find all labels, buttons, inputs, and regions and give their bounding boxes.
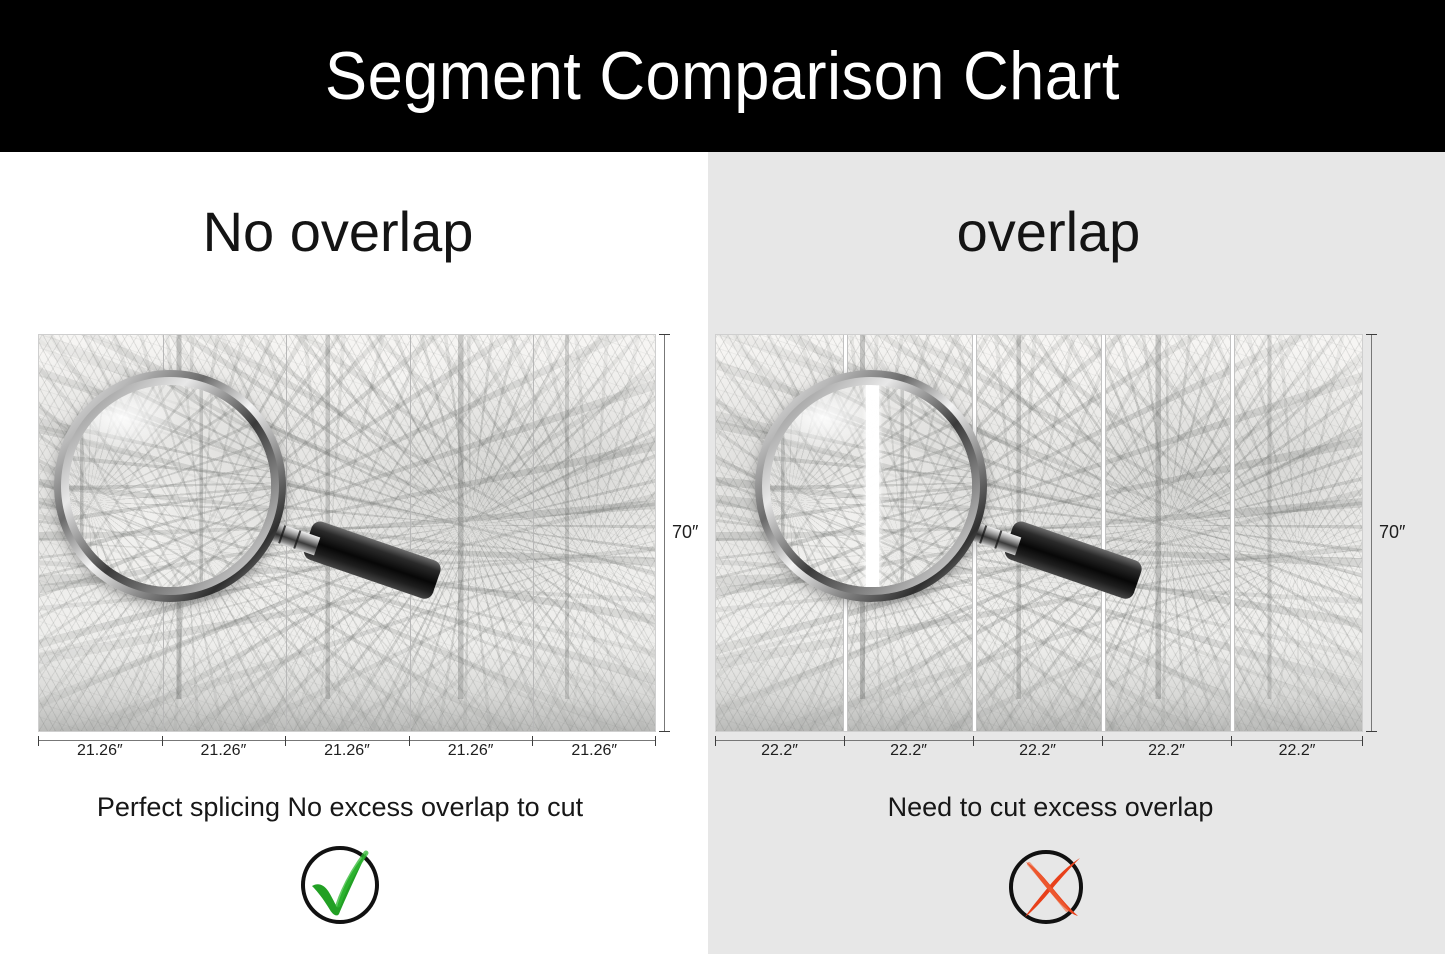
segment-width-label: 21.26″ [532,742,656,760]
check-mark-icon [297,842,383,928]
panel-heading-overlap: overlap [708,204,1445,260]
panel-heading-no-overlap: No overlap [0,204,708,260]
mural-no-overlap: 21.26″ 21.26″ 21.26″ 21.26″ 21.26″ 70″ [38,334,656,732]
mural-overlap: 22.2″ 22.2″ 22.2″ 22.2″ 22.2″ 70″ [715,334,1363,732]
magnifier-no-overlap [54,370,440,622]
magnifier-lens [69,385,271,587]
dimension-cap [659,334,670,335]
dimension-cap [1366,731,1377,732]
segment-width-label: 22.2″ [973,742,1102,760]
segment-width-label: 21.26″ [162,742,286,760]
magnifier-handle [1002,519,1144,601]
verdict-no-overlap [0,842,708,928]
dimension-rule [38,740,656,741]
dimension-rule [715,740,1363,741]
segment-width-label: 21.26″ [409,742,533,760]
magnifier-ring [755,370,987,602]
magnifier-ring-inner [762,377,980,595]
segment-width-label: 22.2″ [1231,742,1363,760]
dimension-cap [659,731,670,732]
segment-width-label: 22.2″ [844,742,973,760]
caption-overlap: Need to cut excess overlap [708,794,1445,821]
height-label-no-overlap: 70″ [672,522,698,543]
segment-width-label: 21.26″ [285,742,409,760]
height-dimension-overlap [1371,334,1372,732]
height-label-overlap: 70″ [1379,522,1405,543]
magnifier-overlap [755,370,1141,622]
magnifier-ring [54,370,286,602]
width-dimension-overlap: 22.2″ 22.2″ 22.2″ 22.2″ 22.2″ [715,740,1363,766]
segment-width-label: 22.2″ [715,742,844,760]
width-dimension-no-overlap: 21.26″ 21.26″ 21.26″ 21.26″ 21.26″ [38,740,656,766]
height-dimension-no-overlap [664,334,665,732]
cross-mark-icon [1006,842,1092,928]
dimension-cap [1366,334,1377,335]
segment-comparison-chart: Segment Comparison Chart No overlap [0,0,1445,954]
magnifier-lens [770,385,972,587]
magnified-overlap-seam [866,385,879,587]
page-title: Segment Comparison Chart [325,42,1120,110]
magnified-artwork [69,385,271,587]
comparison-halves: No overlap [0,152,1445,954]
segment-width-label: 22.2″ [1102,742,1231,760]
magnifier-ring-inner [61,377,279,595]
panel-overlap: overlap [708,152,1445,954]
caption-no-overlap: Perfect splicing No excess overlap to cu… [0,794,708,821]
title-banner: Segment Comparison Chart [0,0,1445,152]
magnifier-handle [301,519,443,601]
verdict-overlap [708,842,1445,928]
segment-width-label: 21.26″ [38,742,162,760]
panel-no-overlap: No overlap [0,152,708,954]
